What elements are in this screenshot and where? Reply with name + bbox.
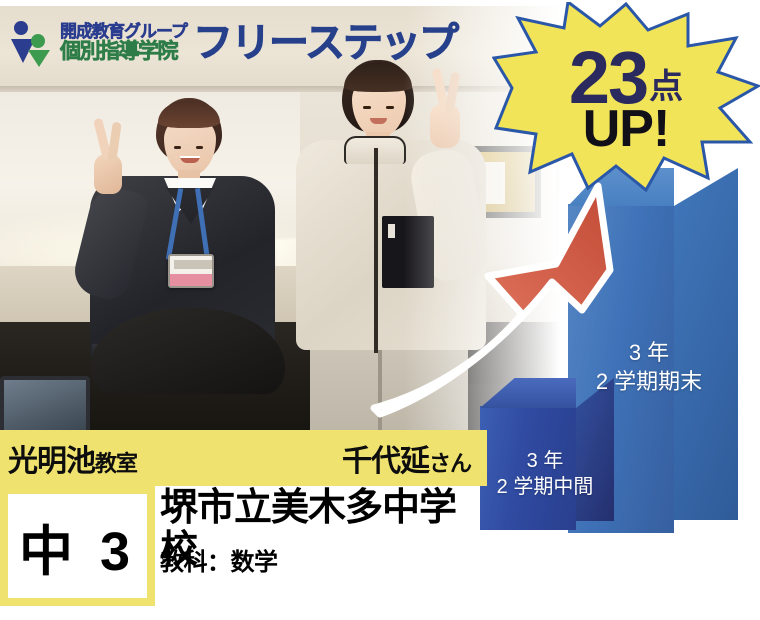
points-up-badge: 23 点 UP! xyxy=(492,2,760,192)
logo-brand-name: フリーステップ xyxy=(193,23,457,63)
grade-badge-wrap: 中 3 xyxy=(0,486,155,606)
bar-label-midterm: 3 年 2 学期中間 xyxy=(478,448,612,500)
freestep-figure-logo-icon xyxy=(10,19,54,67)
classroom-name: 光明池 xyxy=(8,436,95,480)
logo-text-block: 開成教育グループ 個別指導学院 xyxy=(60,23,187,63)
logo-group-line: 開成教育グループ xyxy=(60,23,187,41)
grade-value: 中 3 xyxy=(19,507,136,586)
growth-arrow xyxy=(360,168,630,418)
grade-box: 中 3 xyxy=(8,494,147,598)
logo-institute-line: 個別指導学院 xyxy=(60,41,187,63)
freestep-logo: 開成教育グループ 個別指導学院 フリーステップ xyxy=(10,14,457,72)
classroom-suffix: 教室 xyxy=(95,446,137,478)
student-info-panel: 光明池 教室 千代延 さん 中 3 堺市立美木多中学校 教科：数学 xyxy=(0,430,487,606)
student-name: 千代延 xyxy=(342,436,429,480)
poster-root: 開成教育グループ 個別指導学院 フリーステップ 3 年 2 学期期末 3 年 2… xyxy=(0,0,760,620)
info-top-band: 光明池 教室 千代延 さん xyxy=(0,430,487,486)
classroom-label: 光明池 教室 xyxy=(8,436,137,480)
subject-label: 教科：数学 xyxy=(160,542,278,577)
student-name-label: 千代延 さん xyxy=(342,436,471,480)
student-honorific: さん xyxy=(429,446,471,478)
